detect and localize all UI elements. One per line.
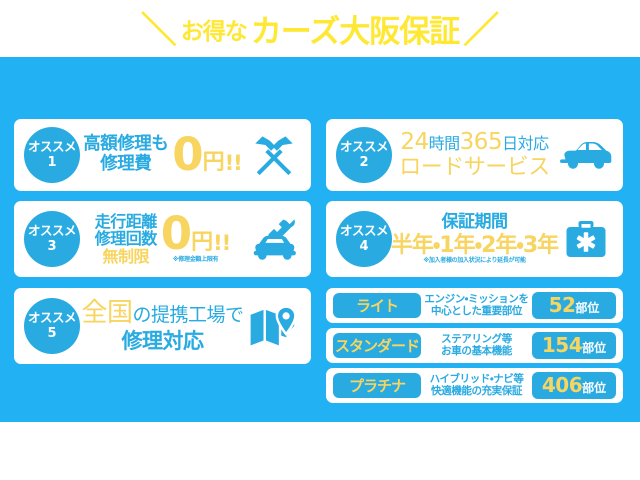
feature-card-5[interactable]: オススメ 5 全国の提携工場で 修理対応: [14, 288, 311, 364]
card-4-text: 保証期間 半年・1年・2年・3年 ※加入者様の加入状況により延長が可能: [391, 213, 558, 265]
plan-desc-line-1: ハイブリッド・ナビ等: [430, 374, 524, 386]
plan-name-pill: スタンダード: [333, 333, 421, 358]
card-3-line-2: 修理回数: [95, 230, 157, 248]
feature-card-1[interactable]: オススメ 1 高額修理も 修理費 0 円 !!: [14, 119, 311, 191]
feature-card-2[interactable]: オススメ 2 24時間365日対応 ロードサービス: [326, 119, 623, 191]
card-3-currency: 円: [191, 232, 213, 254]
map-pin-icon: [245, 305, 303, 347]
recommend-badge-3: オススメ 3: [24, 211, 80, 267]
card-1-text: 高額修理も 修理費: [83, 135, 168, 174]
recommend-badge-2: オススメ 2: [336, 127, 392, 183]
card-2-line-2: ロードサービス: [399, 156, 550, 181]
advertisement-banner: ＼ お得な カーズ大阪保証 ／ オススメ 1 高額修理も 修理費 0 円 !!: [0, 0, 640, 480]
plan-desc-line-1: エンジン・ミッションを: [424, 294, 528, 306]
plan-count-unit: 部位: [575, 295, 599, 322]
crossed-hammers-icon: [245, 132, 303, 178]
plan-desc-line-2: お車の基本機能: [441, 346, 512, 358]
card-1-price: 0 円 !!: [172, 136, 241, 174]
card-1-line-2: 修理費: [100, 155, 151, 175]
plan-count-pill: 52 部位: [532, 292, 616, 319]
card-5-line-1: 全国の提携工場で: [81, 299, 243, 329]
headline-banner: ＼ お得な カーズ大阪保証 ／: [0, 0, 640, 57]
plan-count-number: 154: [542, 332, 582, 359]
card-5-line-2: 修理対応: [122, 329, 204, 353]
card-1-amount: 0: [172, 136, 203, 174]
card-1-currency: 円: [203, 152, 225, 174]
feature-card-4[interactable]: オススメ 4 保証期間 半年・1年・2年・3年 ※加入者様の加入状況により延長が…: [326, 201, 623, 277]
card-2-days: 365: [460, 129, 502, 155]
plan-row-light[interactable]: ライト エンジン・ミッションを 中心とした重要部位 52 部位: [326, 288, 623, 323]
card-1-line-1: 高額修理も: [83, 135, 168, 155]
badge-label: オススメ: [28, 312, 76, 325]
plan-count-pill: 406 部位: [532, 372, 616, 399]
card-2-hours-unit: 時間: [429, 134, 460, 153]
car-wrench-icon: [245, 216, 303, 262]
badge-number: 2: [359, 156, 368, 169]
card-5-text: 全国の提携工場で 修理対応: [81, 299, 243, 353]
recommend-badge-4: オススメ 4: [336, 211, 392, 267]
badge-number: 5: [47, 327, 56, 340]
plan-desc-line-2: 中心とした重要部位: [431, 306, 522, 318]
card-3-price: 0 円 !!: [161, 215, 230, 253]
card-3-text: 走行距離 修理回数 無制限: [95, 213, 157, 266]
card-3-note: ※修理金額上限有: [173, 254, 218, 263]
card-4-terms: 半年・1年・2年・3年: [391, 233, 558, 258]
plan-row-platinum[interactable]: プラチナ ハイブリッド・ナビ等 快適機能の充実保証 406 部位: [326, 368, 623, 403]
plan-name-pill: ライト: [333, 293, 421, 318]
card-4-title: 保証期間: [442, 213, 508, 233]
plan-count-pill: 154 部位: [532, 332, 616, 359]
plan-description: ステアリング等 お車の基本機能: [421, 334, 532, 358]
card-3-amount: 0: [161, 215, 192, 253]
plan-desc-line-2: 快適機能の充実保証: [431, 386, 522, 398]
card-2-line-1: 24時間365日対応: [400, 130, 548, 156]
plan-description: エンジン・ミッションを 中心とした重要部位: [421, 294, 532, 318]
plan-count-number: 52: [549, 292, 576, 319]
card-2-hours: 24: [400, 129, 428, 155]
card-2-days-unit: 日対応: [502, 134, 549, 153]
recommend-badge-5: オススメ 5: [24, 298, 80, 354]
card-3-line-1: 走行距離: [95, 213, 157, 231]
plan-count-unit: 部位: [582, 335, 606, 362]
slash-right-icon: ／: [463, 13, 499, 49]
card-3-line-3: 無制限: [103, 248, 150, 266]
plan-description: ハイブリッド・ナビ等 快適機能の充実保証: [421, 374, 532, 398]
card-1-exclamation: !!: [225, 153, 242, 174]
badge-number: 4: [359, 240, 368, 253]
card-5-rest: の提携工場で: [133, 304, 244, 326]
card-2-text: 24時間365日対応 ロードサービス: [399, 130, 550, 180]
first-aid-kit-icon: [557, 218, 615, 260]
recommend-badge-1: オススメ 1: [24, 127, 80, 183]
feature-card-3[interactable]: オススメ 3 走行距離 修理回数 無制限 0 円 !! ※修理金額上限有: [14, 201, 311, 277]
card-4-note: ※加入者様の加入状況により延長が可能: [423, 258, 525, 265]
slash-left-icon: ＼: [141, 13, 177, 49]
plan-desc-line-1: ステアリング等: [441, 334, 512, 346]
badge-label: オススメ: [340, 225, 388, 238]
card-3-exclamation: !!: [213, 233, 230, 254]
headline-title: カーズ大阪保証: [251, 6, 459, 51]
plan-name-pill: プラチナ: [333, 373, 421, 398]
badge-label: オススメ: [28, 141, 76, 154]
plan-count-number: 406: [542, 372, 582, 399]
badge-number: 1: [47, 156, 56, 169]
plan-row-standard[interactable]: スタンダード ステアリング等 お車の基本機能 154 部位: [326, 328, 623, 363]
headline-prefix: お得な: [181, 12, 247, 46]
car-side-icon: [557, 137, 615, 173]
plan-count-unit: 部位: [582, 375, 606, 402]
badge-number: 3: [47, 240, 56, 253]
badge-label: オススメ: [28, 225, 76, 238]
card-5-highlight: 全国: [81, 298, 132, 328]
badge-label: オススメ: [340, 141, 388, 154]
